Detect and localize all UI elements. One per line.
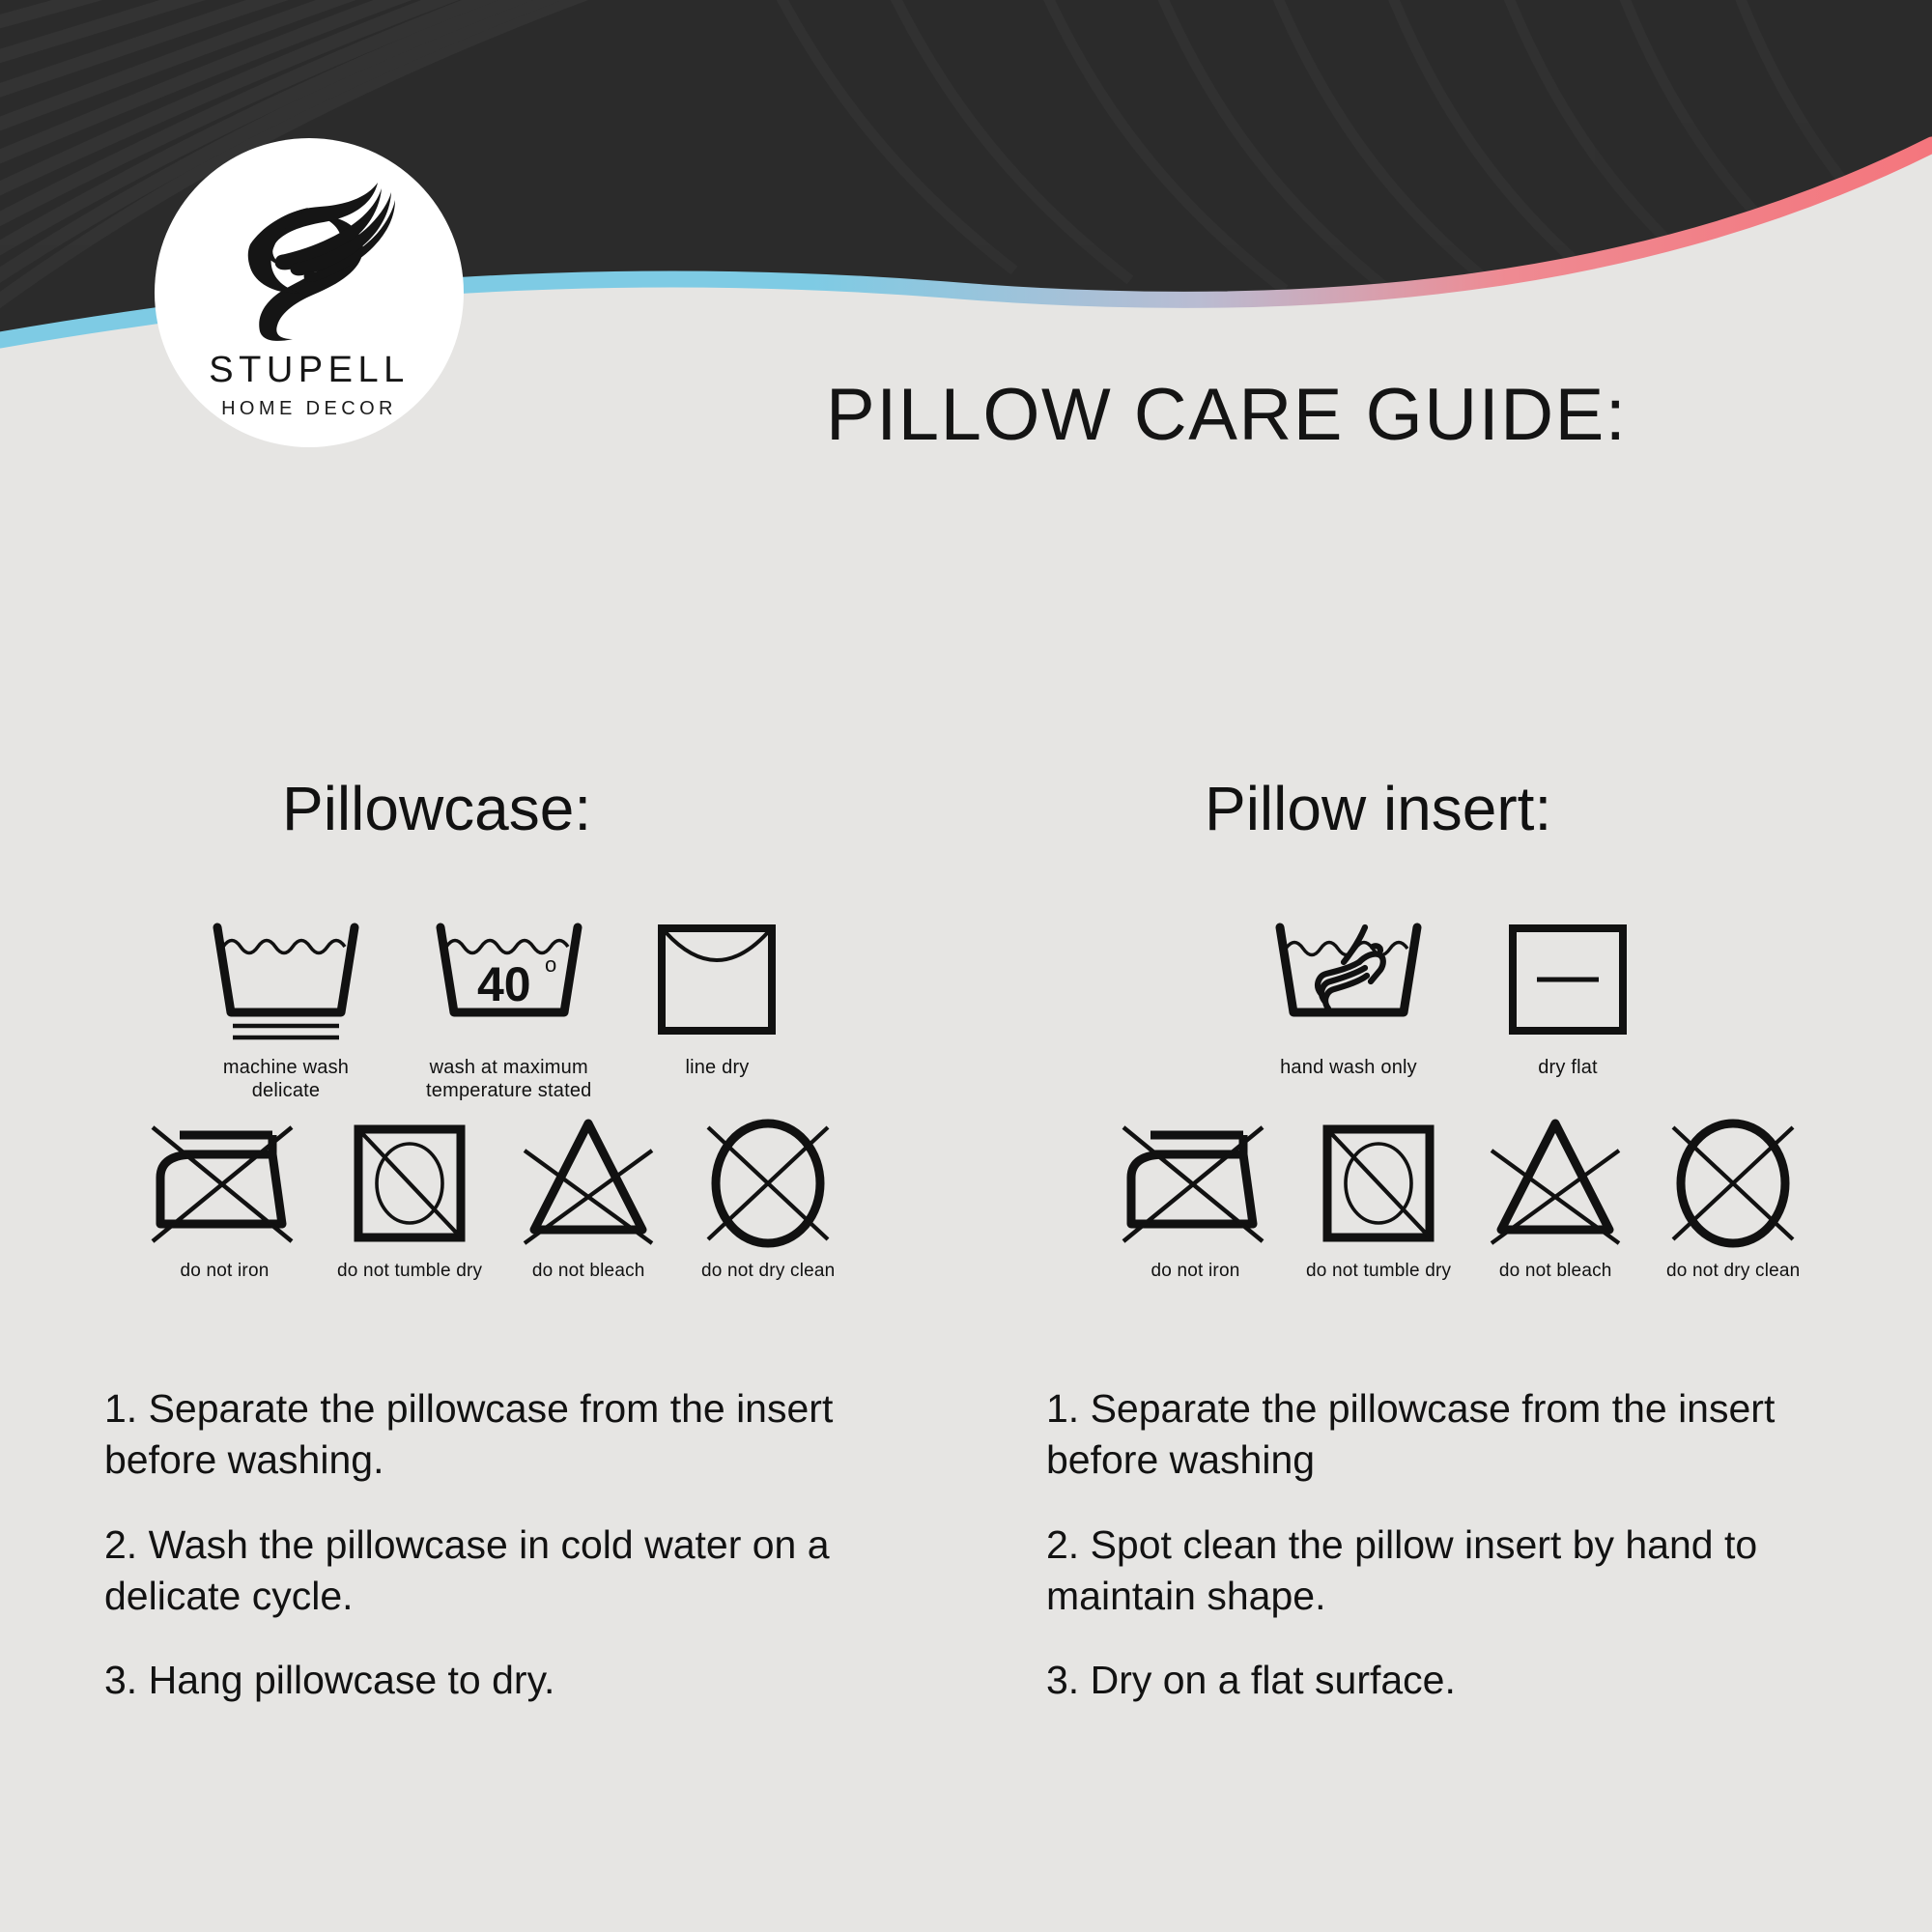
logo-badge: STUPELL HOME DECOR <box>155 138 464 447</box>
instruction-item: 3. Hang pillowcase to dry. <box>104 1655 935 1706</box>
svg-text:o: o <box>545 952 556 977</box>
symbol-caption: do not bleach <box>532 1261 645 1282</box>
symbol-machine-wash-delicate: machine washdelicate <box>208 920 364 1102</box>
line-dry-icon <box>653 920 781 1047</box>
symbol-caption: machine washdelicate <box>223 1057 349 1102</box>
symbol-row-insert-2: do not iron do not tumble dry do not ble… <box>1116 1116 1806 1282</box>
page-title: PILLOW CARE GUIDE: <box>826 379 1627 452</box>
symbol-do-not-dry-clean: do not dry clean <box>1660 1116 1806 1282</box>
do-not-tumble-dry-icon <box>339 1116 480 1251</box>
do-not-iron-icon <box>1116 1116 1275 1251</box>
wash-40-degrees-icon: 40 o <box>431 920 587 1047</box>
care-guide-page: STUPELL HOME DECOR PILLOW CARE GUIDE: Pi… <box>0 0 1932 1932</box>
symbol-caption: do not tumble dry <box>1306 1261 1451 1282</box>
instruction-item: 2. Wash the pillowcase in cold water on … <box>104 1520 935 1623</box>
instruction-item: 1. Separate the pillowcase from the inse… <box>1046 1383 1877 1487</box>
symbol-do-not-tumble-dry: do not tumble dry <box>1306 1116 1451 1282</box>
instructions-pillow-insert: 1. Separate the pillowcase from the inse… <box>1046 1383 1877 1739</box>
do-not-tumble-dry-icon <box>1308 1116 1449 1251</box>
section-heading-pillow-insert: Pillow insert: <box>1205 778 1551 839</box>
symbol-caption: line dry <box>685 1057 749 1080</box>
symbol-caption: do not dry clean <box>701 1261 835 1282</box>
instructions-pillowcase: 1. Separate the pillowcase from the inse… <box>104 1383 935 1739</box>
do-not-dry-clean-icon <box>1660 1116 1806 1251</box>
do-not-bleach-icon <box>515 1116 662 1251</box>
symbol-do-not-dry-clean: do not dry clean <box>695 1116 841 1282</box>
machine-wash-delicate-icon <box>208 920 364 1047</box>
symbol-wash-40-degrees: 40 o wash at maximumtemperature stated <box>426 920 591 1102</box>
do-not-dry-clean-icon <box>695 1116 841 1251</box>
symbol-hand-wash-only: hand wash only <box>1270 920 1427 1080</box>
symbol-caption: do not iron <box>1151 1261 1240 1282</box>
instruction-item: 1. Separate the pillowcase from the inse… <box>104 1383 935 1487</box>
symbol-dry-flat: dry flat <box>1504 920 1632 1080</box>
symbol-row-pillowcase-2: do not iron do not tumble dry do not ble… <box>145 1116 841 1282</box>
symbol-do-not-bleach: do not bleach <box>1482 1116 1629 1282</box>
symbol-do-not-tumble-dry: do not tumble dry <box>337 1116 482 1282</box>
symbol-caption: do not bleach <box>1499 1261 1612 1282</box>
section-heading-pillowcase: Pillowcase: <box>282 778 591 839</box>
hand-wash-only-icon <box>1270 920 1427 1047</box>
dry-flat-icon <box>1504 920 1632 1047</box>
symbol-caption: dry flat <box>1538 1057 1598 1080</box>
symbol-do-not-iron: do not iron <box>1116 1116 1275 1282</box>
symbol-row-insert-1: hand wash only dry flat <box>1270 920 1632 1080</box>
symbol-do-not-bleach: do not bleach <box>515 1116 662 1282</box>
logo-tagline: HOME DECOR <box>221 399 397 418</box>
symbol-caption: do not iron <box>181 1261 270 1282</box>
svg-text:40: 40 <box>477 957 531 1011</box>
symbol-line-dry: line dry <box>653 920 781 1080</box>
swoosh-s-icon <box>217 169 401 348</box>
symbol-caption: wash at maximumtemperature stated <box>426 1057 591 1102</box>
instruction-item: 3. Dry on a flat surface. <box>1046 1655 1877 1706</box>
instruction-item: 2. Spot clean the pillow insert by hand … <box>1046 1520 1877 1623</box>
symbol-caption: do not dry clean <box>1666 1261 1800 1282</box>
symbol-caption: do not tumble dry <box>337 1261 482 1282</box>
symbol-do-not-iron: do not iron <box>145 1116 304 1282</box>
do-not-bleach-icon <box>1482 1116 1629 1251</box>
logo-wordmark: STUPELL <box>209 352 409 388</box>
do-not-iron-icon <box>145 1116 304 1251</box>
symbol-row-pillowcase-1: machine washdelicate 40 o wash at maximu… <box>208 920 781 1102</box>
symbol-caption: hand wash only <box>1280 1057 1417 1080</box>
